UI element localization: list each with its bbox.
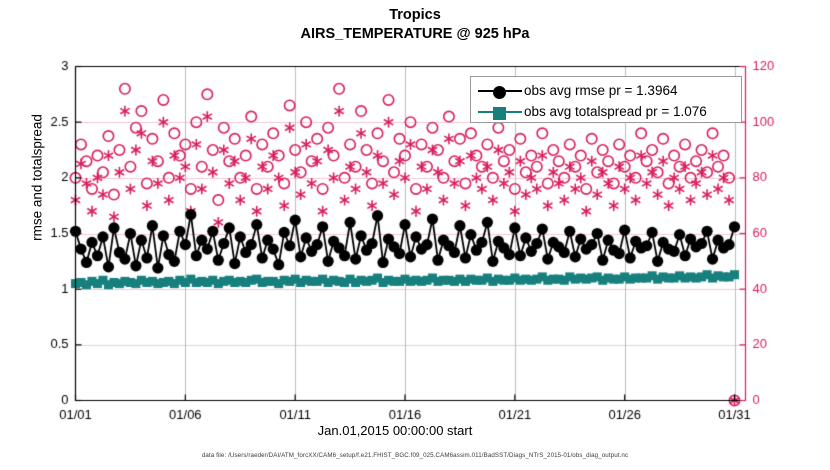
legend-label-rmse: obs avg rmse pr = 1.3964 (524, 83, 677, 98)
chart-legend: obs avg rmse pr = 1.3964 obs avg totalsp… (470, 76, 742, 123)
legend-label-totalspread: obs avg totalspread pr = 1.076 (524, 104, 707, 119)
chart-page: Tropics AIRS_TEMPERATURE @ 925 hPa rmse … (0, 0, 830, 470)
x-axis-label: Jan.01,2015 00:00:00 start (0, 423, 790, 438)
filled-circle-icon (493, 86, 506, 99)
legend-marker-totalspread (476, 104, 524, 120)
legend-marker-rmse (476, 83, 524, 99)
filled-square-icon (493, 107, 506, 120)
data-file-footer: data file: /Users/raeder/DAI/ATM_forcXX/… (0, 452, 830, 459)
legend-item-totalspread: obs avg totalspread pr = 1.076 (471, 101, 741, 122)
y-axis-left-label: rmse and totalspread (30, 53, 45, 303)
chart-plot-area (0, 0, 830, 470)
legend-item-rmse: obs avg rmse pr = 1.3964 (471, 80, 741, 101)
